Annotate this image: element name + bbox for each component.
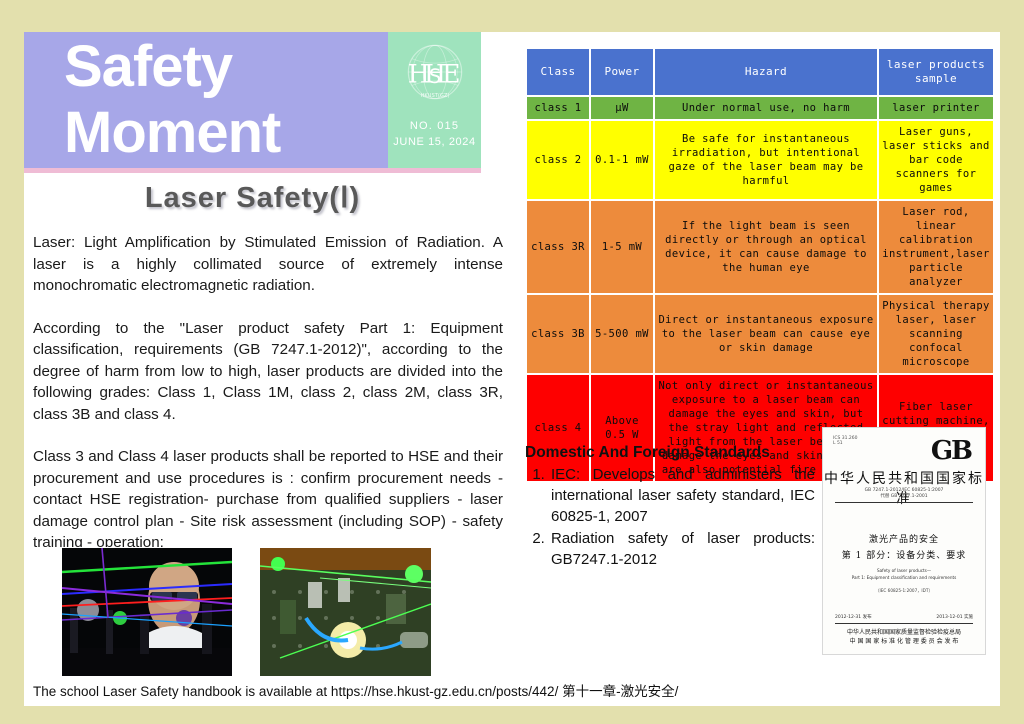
gb-reference-note: （IEC 60825-1:2007，IDT） (823, 588, 985, 594)
standards-section: Domestic And Foreign Standards IEC: Deve… (525, 444, 815, 571)
optical-table-green-laser-photo (259, 547, 432, 677)
gb-subject-line-1: 激光产品的安全 (823, 532, 985, 545)
photo-strip (61, 547, 491, 677)
cell-class: class 2 (527, 121, 589, 199)
gb-issue-date: 2012-12-31 发布 (835, 614, 872, 620)
cell-power: μW (591, 97, 653, 119)
laser-class-table: Class Power Hazard laser products sample… (525, 47, 987, 483)
cell-hazard: Under normal use, no harm (655, 97, 877, 119)
column-header-sample: laser products sample (879, 49, 993, 95)
cell-hazard: If the light beam is seen directly or th… (655, 201, 877, 293)
cell-hazard: Be safe for instantaneous irradiation, b… (655, 121, 877, 199)
standards-list: IEC: Develops and administers the intern… (525, 464, 815, 570)
gb-ics-code: ICS 31.260 L 51 (833, 436, 858, 446)
cell-sample: Laser guns, laser sticks and bar code sc… (879, 121, 993, 199)
cell-sample: laser printer (879, 97, 993, 119)
cell-sample: Laser rod, linear calibration instrument… (879, 201, 993, 293)
hse-badge: H E H S HKUST(GZ) NO. 015 JUNE 15, 2024 (388, 32, 481, 168)
laser-lab-researcher-photo (61, 547, 233, 677)
cell-power: 5-500 mW (591, 295, 653, 373)
list-item: IEC: Develops and administers the intern… (549, 464, 815, 527)
body-paragraph: Class 3 and Class 4 laser products shall… (33, 446, 503, 554)
table-row: class 3B 5-500 mW Direct or instantaneou… (527, 295, 993, 373)
gb-date-row: 2012-12-31 发布 2013-12-01 实施 (835, 614, 973, 620)
gb-issuing-authority: 中华人民共和国国家质量监督检验检疫总局 中 国 国 家 标 准 化 管 理 委 … (823, 628, 985, 646)
cell-class: class 3R (527, 201, 589, 293)
gb-divider-bottom (835, 623, 973, 624)
poster-canvas: Safety Moment H E H S HKUST(GZ) NO. 015 … (0, 0, 1024, 724)
column-header-hazard: Hazard (655, 49, 877, 95)
list-item: Radiation safety of laser products: GB72… (549, 528, 815, 570)
gb-english-title: Safety of laser products— Part 1: Equipm… (823, 567, 985, 581)
svg-text:E: E (442, 59, 460, 88)
cell-power: 1-5 mW (591, 201, 653, 293)
gb-standard-code: GB 7247.1-2012/IEC 60825-1:2007 代替 GB 72… (823, 488, 985, 500)
svg-text:H: H (407, 59, 429, 88)
header-underline-divider (24, 168, 481, 173)
poster-subtitle: Laser Safety(Ⅰ) (24, 180, 481, 215)
gb-subject-line-2: 第 1 部分：设备分类、要求 (823, 548, 985, 561)
issue-date: JUNE 15, 2024 (388, 134, 481, 150)
cell-class: class 3B (527, 295, 589, 373)
column-header-power: Power (591, 49, 653, 95)
footer-handbook-note: The school Laser Safety handbook is avai… (33, 680, 993, 700)
svg-text:S: S (428, 65, 440, 88)
gb-divider (835, 502, 973, 503)
cell-class: class 1 (527, 97, 589, 119)
poster-page: Safety Moment H E H S HKUST(GZ) NO. 015 … (24, 32, 1000, 706)
hse-globe-logo-icon: H E H S HKUST(GZ) (398, 38, 472, 112)
gb-effective-date: 2013-12-01 实施 (936, 614, 973, 620)
issue-number: NO. 015 (388, 118, 481, 134)
hse-logo-sub-label: HKUST(GZ) (420, 93, 449, 99)
gb-logo-mark: GB (931, 436, 971, 466)
body-paragraph: According to the "Laser product safety P… (33, 318, 503, 426)
body-text-column: Laser: Light Amplification by Stimulated… (33, 232, 503, 575)
gb-standard-cover-image: ICS 31.260 L 51 GB 中华人民共和国国家标准 GB 7247.1… (822, 427, 986, 655)
table-row: class 3R 1-5 mW If the light beam is see… (527, 201, 993, 293)
cell-sample: Physical therapy laser, laser scanning c… (879, 295, 993, 373)
photo-b-art (260, 548, 431, 676)
table-row: class 2 0.1-1 mW Be safe for instantaneo… (527, 121, 993, 199)
body-paragraph: Laser: Light Amplification by Stimulated… (33, 232, 503, 297)
cell-hazard: Direct or instantaneous exposure to the … (655, 295, 877, 373)
cell-power: 0.1-1 mW (591, 121, 653, 199)
table-header-row: Class Power Hazard laser products sample (527, 49, 993, 95)
photo-a-art (62, 548, 232, 676)
table-row: class 1 μW Under normal use, no harm las… (527, 97, 993, 119)
standards-heading: Domestic And Foreign Standards (525, 444, 815, 462)
column-header-class: Class (527, 49, 589, 95)
